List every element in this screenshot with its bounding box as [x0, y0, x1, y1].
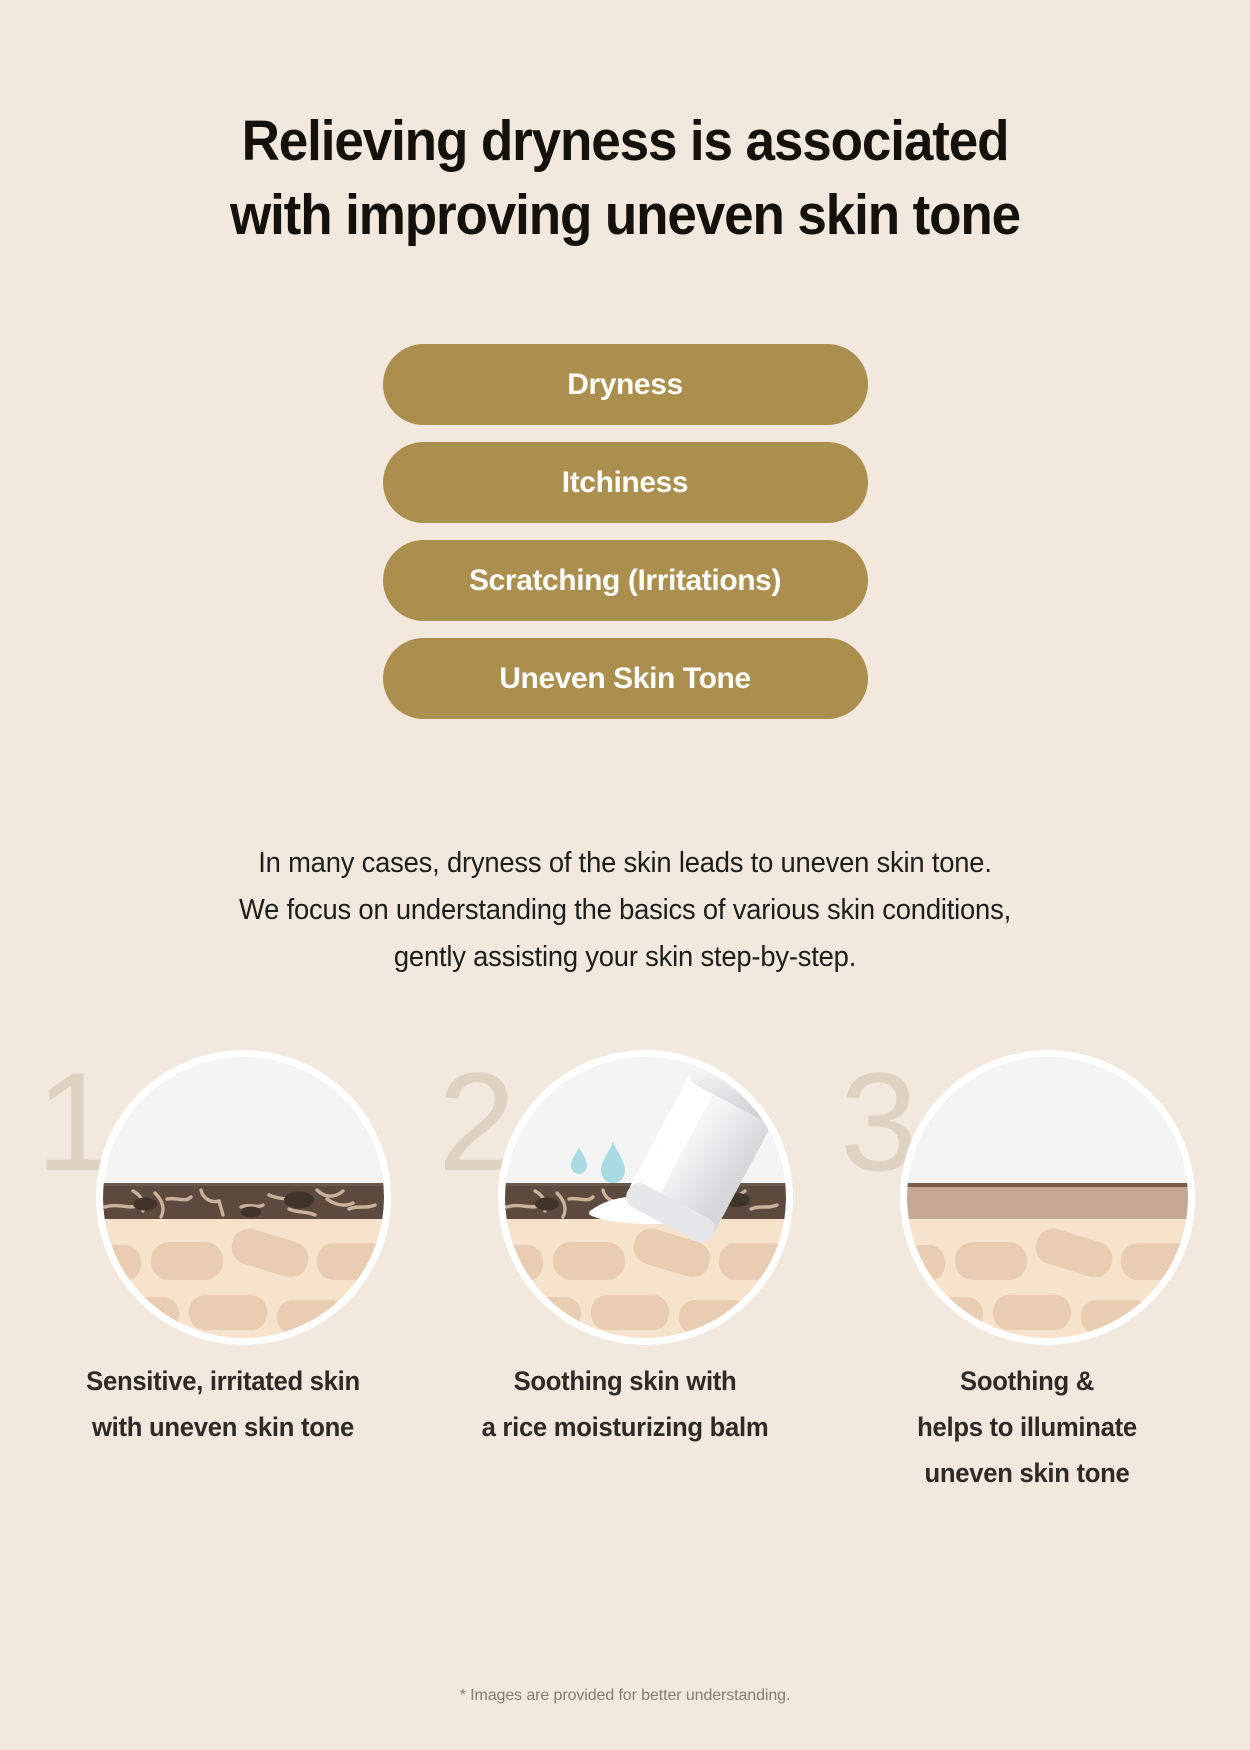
step-caption-line-2: helps to illuminate [842, 1404, 1213, 1450]
step-caption-line-1: Soothing skin with [440, 1358, 811, 1404]
step-figure: 2 [430, 1040, 820, 1345]
damaged-skin-cross-section-icon [103, 1057, 384, 1338]
step-circle-frame [498, 1050, 793, 1345]
symptom-pill-label: Itchiness [562, 466, 688, 500]
page-title: Relieving dryness is associated with imp… [0, 104, 1250, 252]
step-caption-line-3: uneven skin tone [842, 1450, 1213, 1496]
step-item-1: 1 [28, 1040, 418, 1540]
symptom-pill-dryness: Dryness [383, 344, 868, 425]
step-figure: 3 [832, 1040, 1222, 1345]
symptom-pill-label: Dryness [567, 368, 683, 402]
symptom-pill-label: Uneven Skin Tone [499, 662, 750, 696]
step-caption-line-1: Soothing & [842, 1358, 1213, 1404]
footnote: * Images are provided for better underst… [0, 1687, 1250, 1705]
symptom-pill-list: Dryness Itchiness Scratching (Irritation… [0, 344, 1250, 719]
symptom-pill-itchiness: Itchiness [383, 442, 868, 523]
intro-paragraph: In many cases, dryness of the skin leads… [0, 840, 1250, 981]
intro-paragraph-line-3: gently assisting your skin step-by-step. [25, 934, 1225, 981]
step-caption: Soothing & helps to illuminate uneven sk… [832, 1358, 1222, 1496]
intro-paragraph-line-1: In many cases, dryness of the skin leads… [25, 840, 1225, 887]
step-circle-frame [900, 1050, 1195, 1345]
infographic-page: Relieving dryness is associated with imp… [0, 0, 1250, 1750]
intro-paragraph-line-2: We focus on understanding the basics of … [25, 887, 1225, 934]
step-item-2: 2 [430, 1040, 820, 1540]
step-caption: Soothing skin with a rice moisturizing b… [430, 1358, 820, 1450]
step-figure: 1 [28, 1040, 418, 1345]
step-item-3: 3 [832, 1040, 1222, 1540]
symptom-pill-scratching: Scratching (Irritations) [383, 540, 868, 621]
step-circle-frame [96, 1050, 391, 1345]
step-caption-line-1: Sensitive, irritated skin [38, 1358, 409, 1404]
step-caption-line-2: with uneven skin tone [38, 1404, 409, 1450]
healthy-skin-cross-section-icon [907, 1057, 1188, 1338]
balm-tube-applying-icon [505, 1057, 786, 1338]
step-caption-line-2: a rice moisturizing balm [440, 1404, 811, 1450]
page-title-line-2: with improving uneven skin tone [44, 178, 1207, 252]
symptom-pill-uneven-skin-tone: Uneven Skin Tone [383, 638, 868, 719]
step-caption: Sensitive, irritated skin with uneven sk… [28, 1358, 418, 1450]
page-title-line-1: Relieving dryness is associated [44, 104, 1207, 178]
step-gallery: 1 [0, 1040, 1250, 1540]
symptom-pill-label: Scratching (Irritations) [469, 564, 781, 598]
